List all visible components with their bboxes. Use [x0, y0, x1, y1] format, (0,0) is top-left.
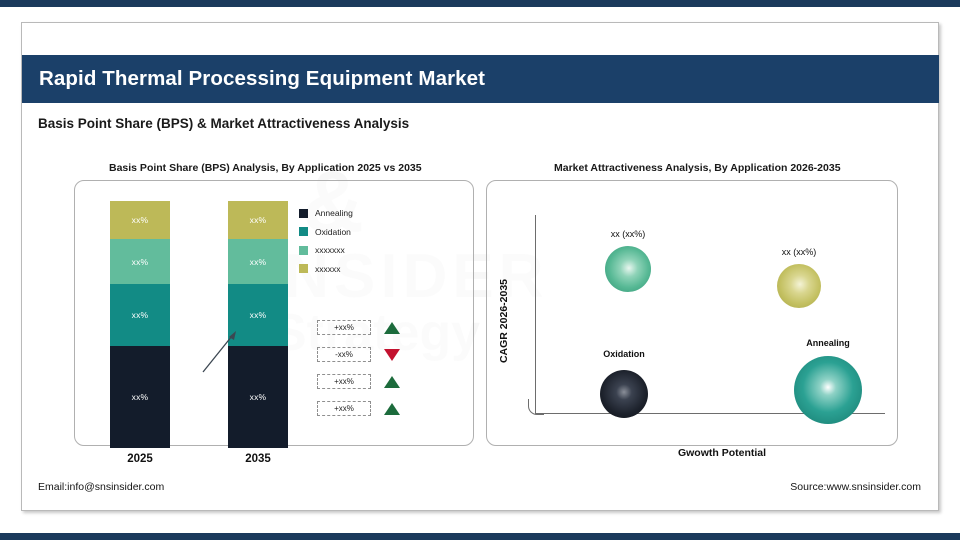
legend-swatch-icon: [299, 264, 308, 273]
bar-2025-segment-xxxxxxx: xx%: [110, 239, 170, 284]
arrow-down-icon: [384, 349, 400, 361]
page-subtitle: Basis Point Share (BPS) & Market Attract…: [38, 116, 409, 131]
bar-2025-segment-oxidation: xx%: [110, 284, 170, 346]
legend-label-oxidation: Oxidation: [315, 227, 351, 237]
delta-row-3: +xx%: [317, 368, 400, 395]
legend-item-annealing[interactable]: Annealing: [299, 204, 353, 223]
legend-item-series-3[interactable]: xxxxxxx: [299, 241, 353, 260]
y-axis-label: CAGR 2026-2035: [498, 261, 510, 381]
legend-item-series-4[interactable]: xxxxxx: [299, 260, 353, 279]
axis-corner-curve: [528, 399, 544, 415]
bottom-accent-bar: [0, 533, 960, 540]
slide-card: & INSIDER Strategy Rapid Thermal Process…: [21, 22, 939, 511]
delta-chip-3: +xx%: [317, 374, 371, 389]
bubble-label-series-1: xx (xx%): [588, 229, 668, 239]
legend-swatch-icon: [299, 246, 308, 255]
delta-chip-4: +xx%: [317, 401, 371, 416]
delta-row-2: -xx%: [317, 341, 400, 368]
bps-chart-title: Basis Point Share (BPS) Analysis, By App…: [109, 162, 422, 174]
arrow-up-icon: [384, 322, 400, 334]
bubble-series-2[interactable]: [777, 264, 821, 308]
bar-2025-segment-xxxxxx: xx%: [110, 201, 170, 239]
bubble-label-series-2: xx (xx%): [759, 247, 839, 257]
bar-axis-label-2035: 2035: [228, 453, 288, 465]
bubble-annealing[interactable]: [794, 356, 862, 424]
legend-swatch-icon: [299, 209, 308, 218]
arrow-up-icon: [384, 403, 400, 415]
delta-row-1: +xx%: [317, 314, 400, 341]
bar-axis-label-2025: 2025: [110, 453, 170, 465]
legend-swatch-icon: [299, 227, 308, 236]
attractiveness-chart-title: Market Attractiveness Analysis, By Appli…: [554, 162, 841, 174]
bubble-label-annealing: Annealing: [788, 338, 868, 348]
bar-2035-segment-xxxxxx: xx%: [228, 201, 288, 239]
growth-arrow-icon: [199, 328, 241, 376]
bar-2035-segment-xxxxxxx: xx%: [228, 239, 288, 284]
bps-delta-list: +xx% -xx% +xx% +xx%: [317, 314, 400, 422]
delta-chip-2: -xx%: [317, 347, 371, 362]
bps-legend: Annealing Oxidation xxxxxxx xxxxxx: [299, 204, 353, 278]
bubble-label-oxidation: Oxidation: [584, 349, 664, 359]
legend-label-series-4: xxxxxx: [315, 264, 341, 274]
delta-chip-1: +xx%: [317, 320, 371, 335]
stacked-bar-2025: xx% xx% xx% xx%: [110, 201, 170, 448]
title-band: Rapid Thermal Processing Equipment Marke…: [22, 55, 939, 103]
bubble-oxidation[interactable]: [600, 370, 648, 418]
delta-row-4: +xx%: [317, 395, 400, 422]
bar-2025-segment-annealing: xx%: [110, 346, 170, 448]
footer-email: Email:info@snsinsider.com: [38, 481, 164, 493]
y-axis-line: [535, 215, 536, 413]
legend-label-series-3: xxxxxxx: [315, 245, 345, 255]
legend-item-oxidation[interactable]: Oxidation: [299, 223, 353, 242]
legend-label-annealing: Annealing: [315, 208, 353, 218]
stacked-bar-2035: xx% xx% xx% xx%: [228, 201, 288, 448]
arrow-up-icon: [384, 376, 400, 388]
bubble-series-1[interactable]: [605, 246, 651, 292]
page-title: Rapid Thermal Processing Equipment Marke…: [39, 67, 485, 91]
footer-source: Source:www.snsinsider.com: [790, 481, 921, 493]
slide-canvas: & INSIDER Strategy Rapid Thermal Process…: [0, 0, 960, 540]
x-axis-label: Gwowth Potential: [582, 447, 862, 459]
top-accent-bar: [0, 0, 960, 7]
